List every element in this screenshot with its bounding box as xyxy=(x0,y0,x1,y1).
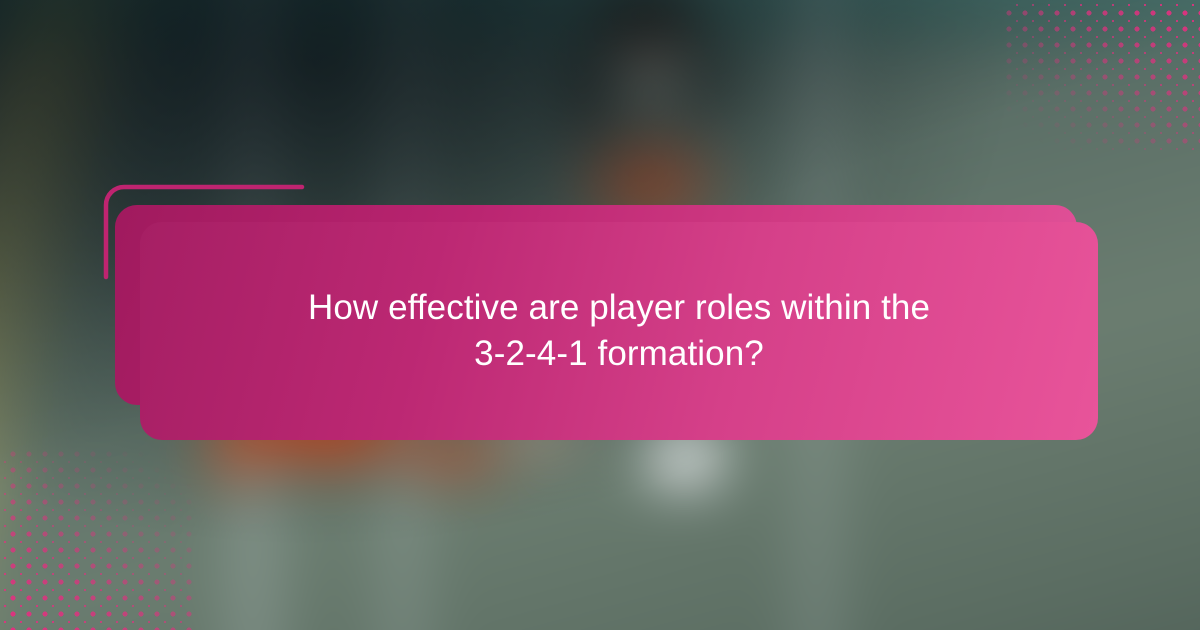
halftone-dots-top-right-icon xyxy=(1006,0,1200,154)
page-title: How effective are player roles within th… xyxy=(140,285,1098,377)
headline-line-1: How effective are player roles within th… xyxy=(184,285,1054,331)
halftone-dots-bottom-left-icon xyxy=(0,451,194,630)
social-card-canvas: How effective are player roles within th… xyxy=(0,0,1200,630)
headline-card: How effective are player roles within th… xyxy=(140,222,1098,440)
headline-line-2: 3-2-4-1 formation? xyxy=(184,331,1054,377)
